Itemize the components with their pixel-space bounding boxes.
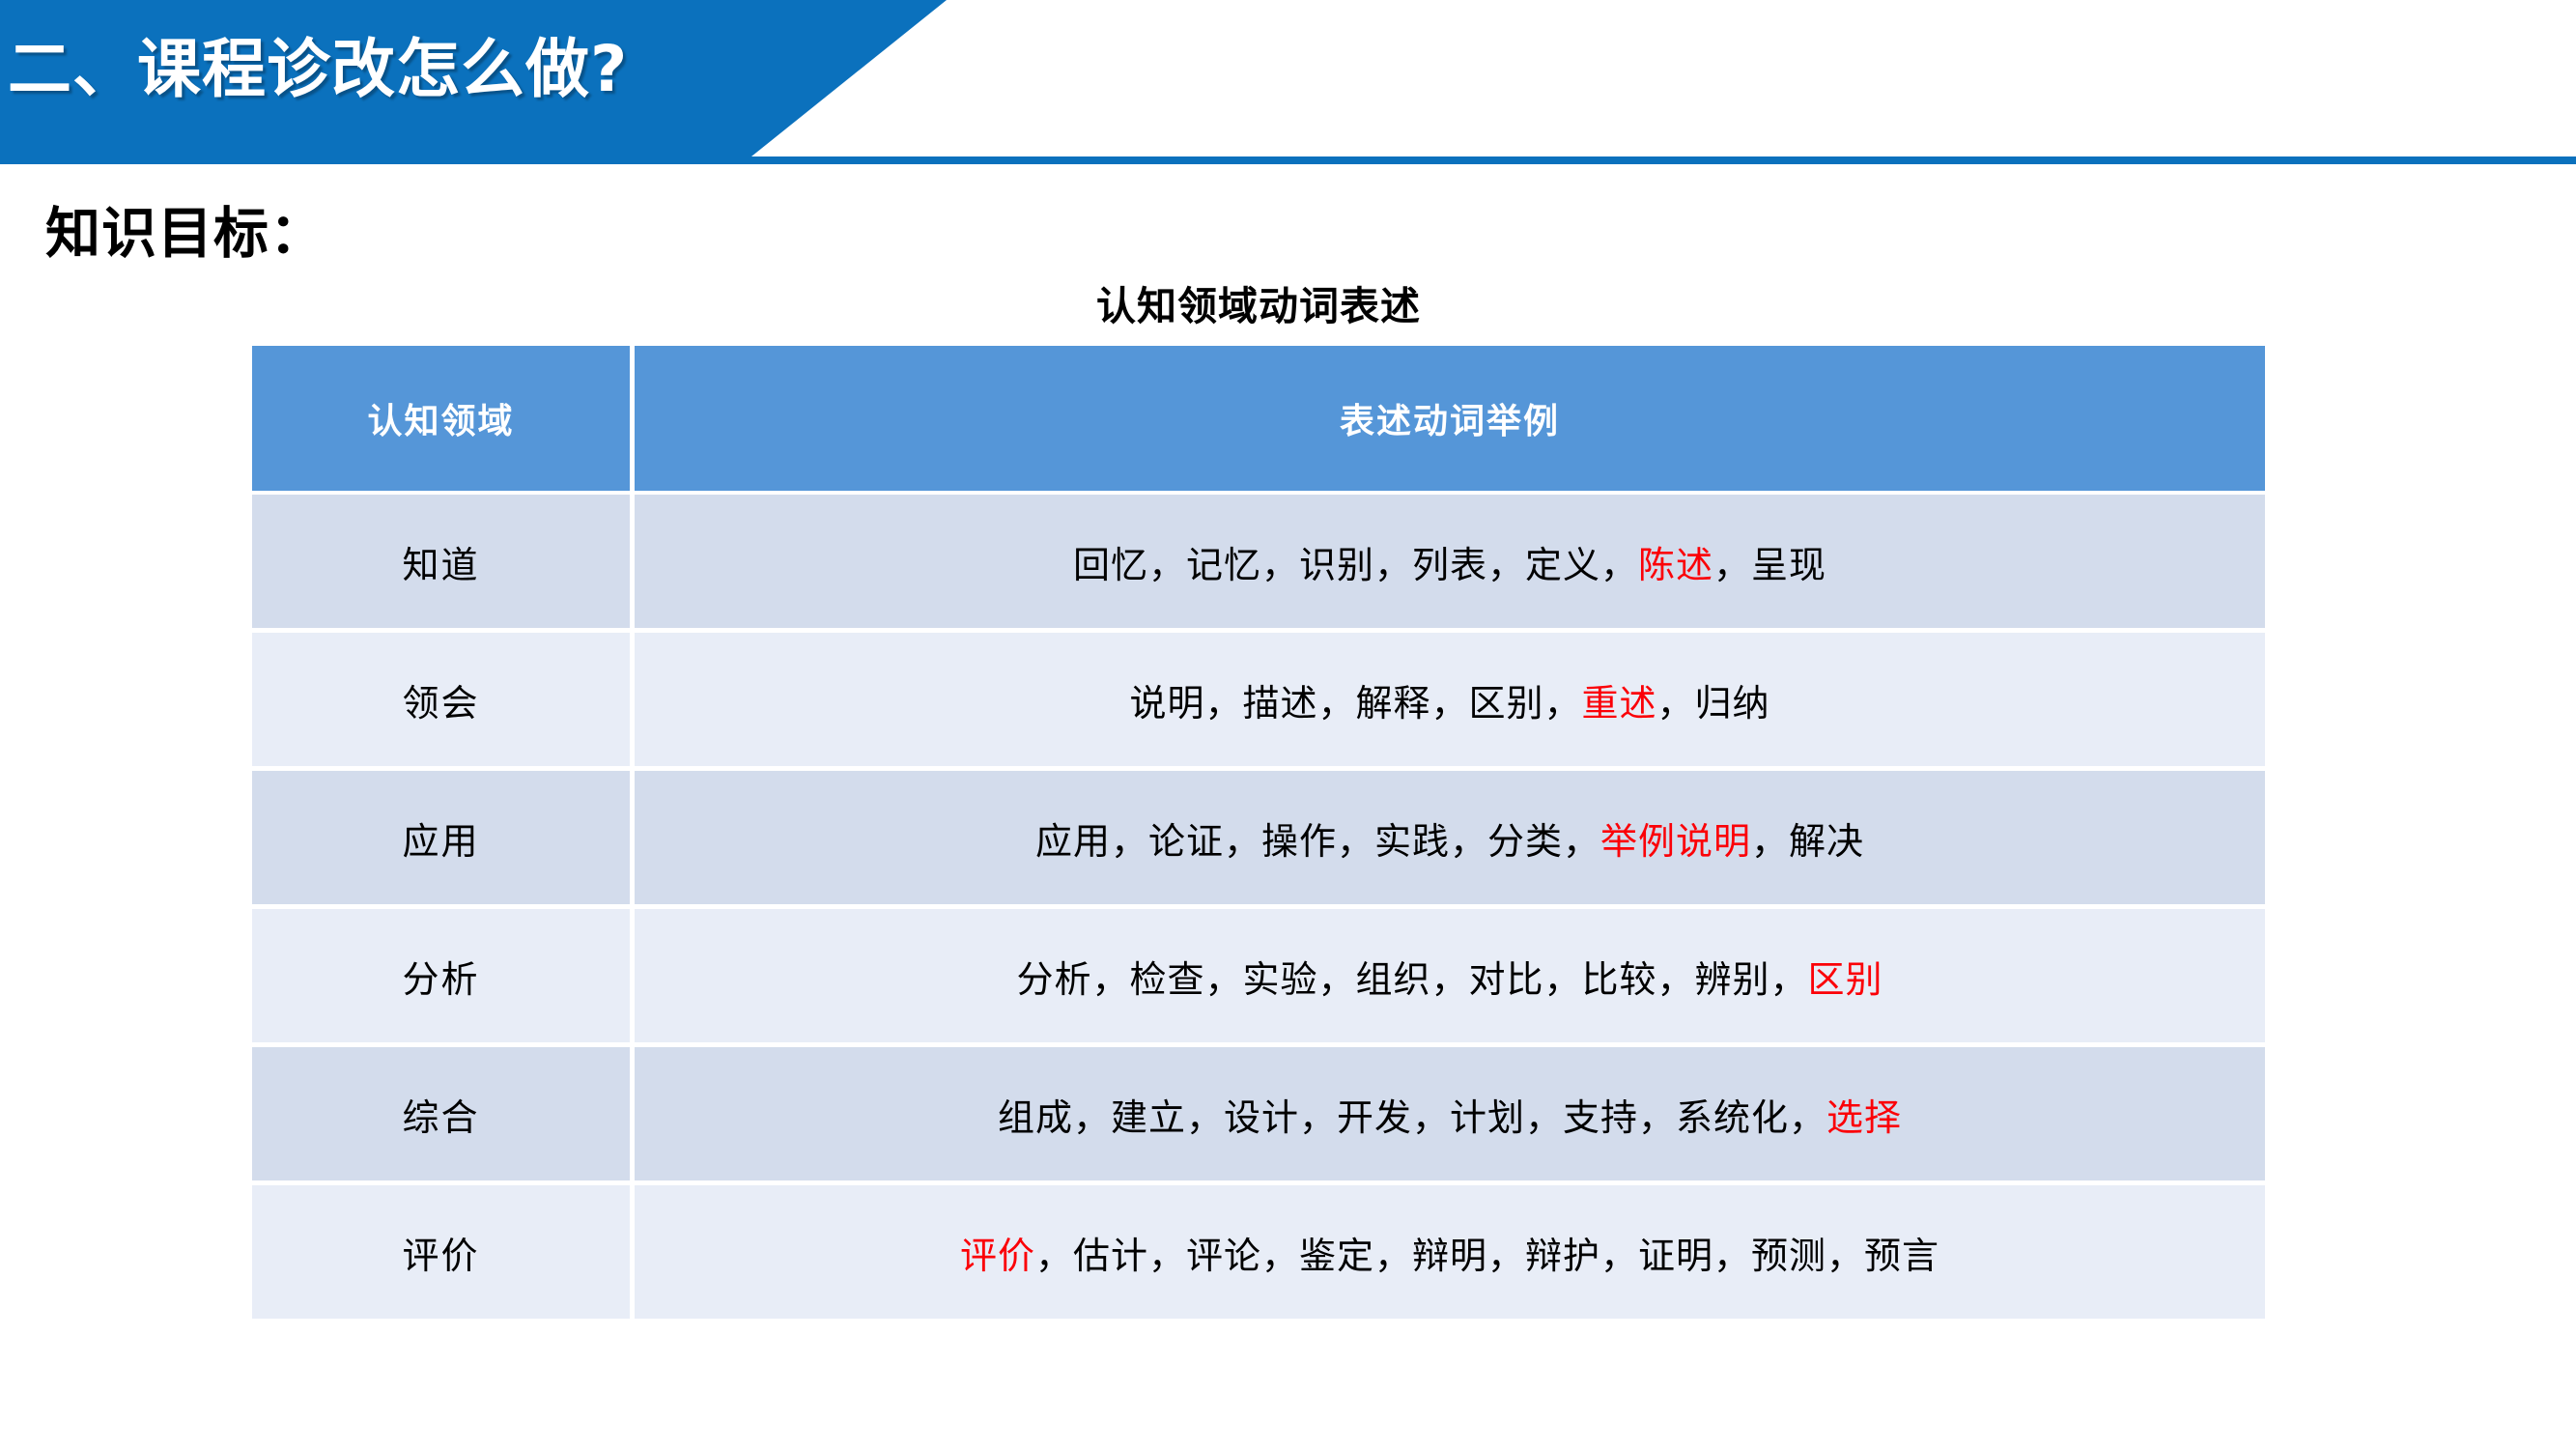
cell-domain: 分析 xyxy=(252,909,635,1047)
table-body: 知道 回忆，记忆，识别，列表，定义，陈述，呈现 领会 说明，描述，解释，区别，重… xyxy=(252,495,2265,1319)
verbs-highlight: 区别 xyxy=(1808,958,1883,1001)
verbs-highlight: 评价 xyxy=(960,1235,1035,1277)
verbs-post: ，估计，评论，鉴定，辩明，辩护，证明，预测，预言 xyxy=(1035,1235,1939,1277)
cognitive-domain-verb-table: 认知领域 表述动词举例 知道 回忆，记忆，识别，列表，定义，陈述，呈现 领会 说… xyxy=(252,346,2265,1319)
verbs-pre: 说明，描述，解释，区别， xyxy=(1129,682,1581,725)
verbs-pre: 分析，检查，实验，组织，对比，比较，辨别， xyxy=(1016,958,1807,1001)
verbs-post: ，呈现 xyxy=(1713,544,1826,586)
verbs-pre: 应用，论证，操作，实践，分类， xyxy=(1035,820,1600,863)
column-header-verb-examples: 表述动词举例 xyxy=(635,346,2265,495)
page-title: 二、课程诊改怎么做? xyxy=(8,17,628,110)
table-row: 分析 分析，检查，实验，组织，对比，比较，辨别，区别 xyxy=(252,909,2265,1047)
verbs-highlight: 重述 xyxy=(1581,682,1656,725)
table-row: 知道 回忆，记忆，识别，列表，定义，陈述，呈现 xyxy=(252,495,2265,633)
cell-verbs: 回忆，记忆，识别，列表，定义，陈述，呈现 xyxy=(635,495,2265,633)
verbs-post: ，归纳 xyxy=(1657,682,1770,725)
table-header: 认知领域 表述动词举例 xyxy=(252,346,2265,495)
table-header-row: 认知领域 表述动词举例 xyxy=(252,346,2265,495)
cell-domain: 综合 xyxy=(252,1047,635,1185)
table-row: 评价 评价，估计，评论，鉴定，辩明，辩护，证明，预测，预言 xyxy=(252,1185,2265,1319)
table-row: 应用 应用，论证，操作，实践，分类，举例说明，解决 xyxy=(252,771,2265,909)
cell-domain: 领会 xyxy=(252,633,635,771)
cell-verbs: 评价，估计，评论，鉴定，辩明，辩护，证明，预测，预言 xyxy=(635,1185,2265,1319)
table-title: 认知领域动词表述 xyxy=(252,273,2265,331)
cell-domain: 知道 xyxy=(252,495,635,633)
verbs-highlight: 陈述 xyxy=(1638,544,1713,586)
table-row: 综合 组成，建立，设计，开发，计划，支持，系统化，选择 xyxy=(252,1047,2265,1185)
cell-verbs: 分析，检查，实验，组织，对比，比较，辨别，区别 xyxy=(635,909,2265,1047)
section-label-knowledge-objective: 知识目标： xyxy=(45,189,326,269)
verbs-highlight: 举例说明 xyxy=(1600,820,1751,863)
column-header-cognitive-domain: 认知领域 xyxy=(252,346,635,495)
cell-domain: 应用 xyxy=(252,771,635,909)
cell-domain: 评价 xyxy=(252,1185,635,1319)
cell-verbs: 说明，描述，解释，区别，重述，归纳 xyxy=(635,633,2265,771)
table-row: 领会 说明，描述，解释，区别，重述，归纳 xyxy=(252,633,2265,771)
verbs-pre: 回忆，记忆，识别，列表，定义， xyxy=(1073,544,1638,586)
cell-verbs: 组成，建立，设计，开发，计划，支持，系统化，选择 xyxy=(635,1047,2265,1185)
verbs-post: ，解决 xyxy=(1751,820,1864,863)
verbs-highlight: 选择 xyxy=(1826,1096,1902,1139)
header-divider-rule xyxy=(0,156,2576,164)
cell-verbs: 应用，论证，操作，实践，分类，举例说明，解决 xyxy=(635,771,2265,909)
verbs-pre: 组成，建立，设计，开发，计划，支持，系统化， xyxy=(998,1096,1826,1139)
